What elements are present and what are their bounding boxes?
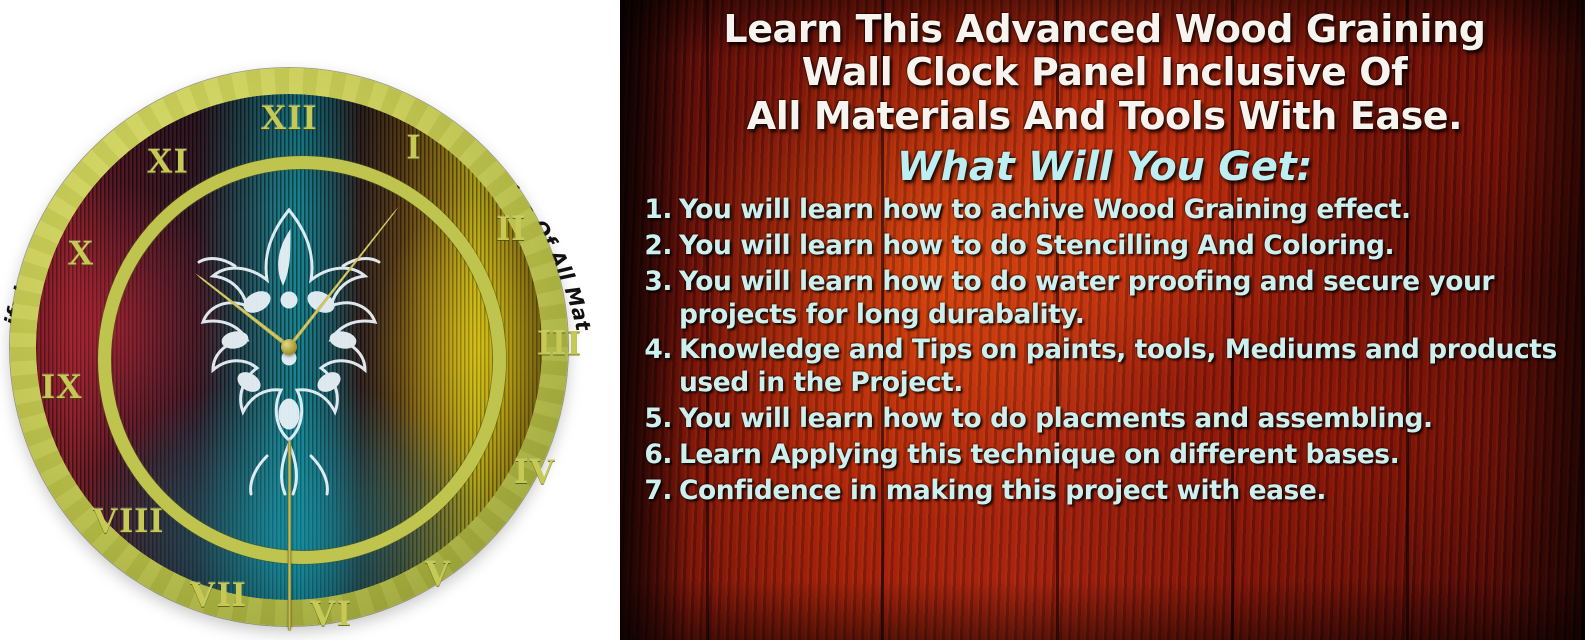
numeral-2: II xyxy=(496,210,526,246)
headline-line-3: All Materials And Tools With Ease. xyxy=(638,95,1571,138)
list-item: 7. Confidence in making this project wit… xyxy=(638,475,1571,508)
list-item-text: You will learn how to do placments and a… xyxy=(679,403,1571,436)
list-item-text: Learn Applying this technique on differe… xyxy=(679,439,1571,472)
list-item-number: 5. xyxy=(638,403,679,436)
numeral-12: XII xyxy=(260,99,317,135)
clock-center-hub xyxy=(281,339,297,355)
list-item-text: You will learn how to achive Wood Graini… xyxy=(679,194,1571,227)
list-item-number: 2. xyxy=(638,230,679,263)
offer-text-pane: Learn This Advanced Wood Graining Wall C… xyxy=(620,0,1585,640)
what-you-get-subheading: What Will You Get: xyxy=(638,144,1571,190)
numeral-6: VI xyxy=(310,595,352,631)
numeral-1: I xyxy=(406,128,421,164)
numeral-7: VII xyxy=(190,576,247,612)
list-item-number: 4. xyxy=(638,334,679,367)
clock-second-hand xyxy=(288,441,291,631)
list-item-number: 3. xyxy=(638,266,679,299)
numeral-5: V xyxy=(425,555,452,591)
list-item: 5. You will learn how to do placments an… xyxy=(638,403,1571,436)
list-item-text: Confidence in making this project with e… xyxy=(679,475,1571,508)
numeral-4: IV xyxy=(514,453,556,489)
list-item-text: Knowledge and Tips on paints, tools, Med… xyxy=(679,334,1571,400)
clock-body: XII I II III IV V VI VII VIII IX X XI xyxy=(10,68,568,626)
numeral-3: III xyxy=(537,324,582,360)
headline-line-2: Wall Clock Panel Inclusive Of xyxy=(638,51,1571,94)
numeral-9: IX xyxy=(41,368,83,404)
numeral-10: X xyxy=(67,235,94,271)
product-photo-pane: Learn This Beautiful Advanced Wood Grain… xyxy=(0,0,620,640)
headline-line-1: Learn This Advanced Wood Graining xyxy=(638,8,1571,51)
benefit-list: 1. You will learn how to achive Wood Gra… xyxy=(638,194,1571,508)
list-item: 2. You will learn how to do Stencilling … xyxy=(638,230,1571,263)
numeral-11: XI xyxy=(147,143,189,179)
wall-clock-product-image: Learn This Beautiful Advanced Wood Grain… xyxy=(8,32,570,632)
list-item-text: You will learn how to do water proofing … xyxy=(679,266,1571,332)
list-item-number: 1. xyxy=(638,194,679,227)
list-item: 1. You will learn how to achive Wood Gra… xyxy=(638,194,1571,227)
offer-content: Learn This Advanced Wood Graining Wall C… xyxy=(620,0,1585,508)
list-item-number: 6. xyxy=(638,439,679,472)
list-item: 6. Learn Applying this technique on diff… xyxy=(638,439,1571,472)
list-item-number: 7. xyxy=(638,475,679,508)
list-item: 3. You will learn how to do water proofi… xyxy=(638,266,1571,332)
headline: Learn This Advanced Wood Graining Wall C… xyxy=(638,8,1571,138)
list-item: 4. Knowledge and Tips on paints, tools, … xyxy=(638,334,1571,400)
promo-banner: Learn This Beautiful Advanced Wood Grain… xyxy=(0,0,1585,640)
list-item-text: You will learn how to do Stencilling And… xyxy=(679,230,1571,263)
